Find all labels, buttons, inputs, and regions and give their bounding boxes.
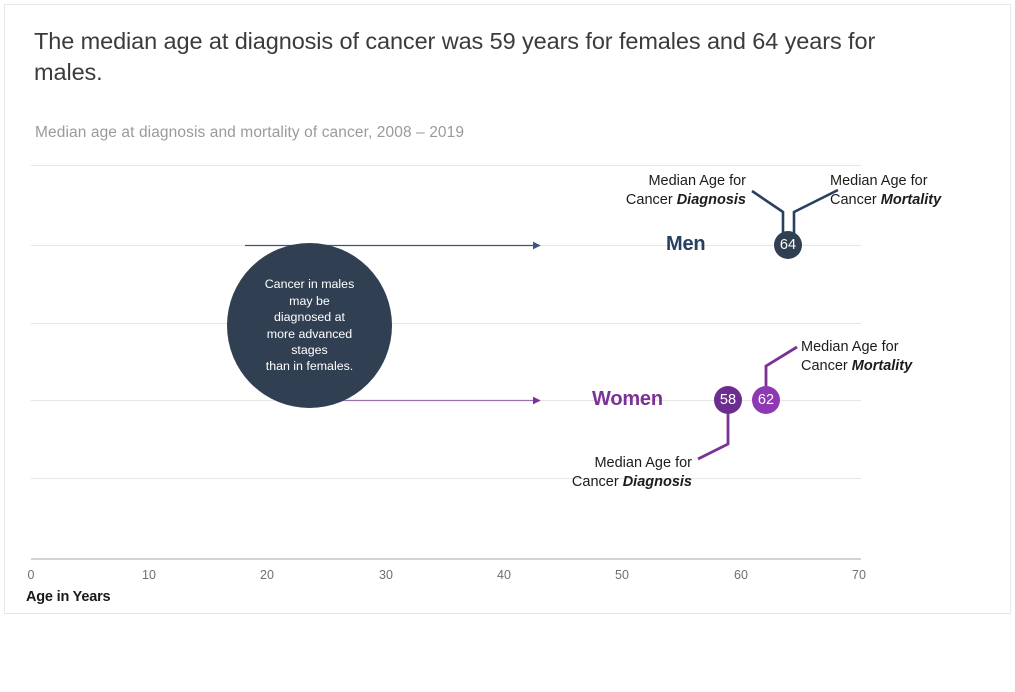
insight-callout-text: Cancer in males may be diagnosed at more…	[251, 276, 369, 374]
series-label-men: Men	[666, 233, 705, 256]
annotation-men-mortality: Median Age for Cancer Mortality	[830, 172, 1000, 210]
marker-women-diagnosis-58[interactable]: 58	[714, 386, 742, 414]
page-title: The median age at diagnosis of cancer wa…	[34, 26, 924, 88]
x-axis-title: Age in Years	[26, 589, 110, 605]
plot-area	[31, 160, 861, 560]
gridline	[31, 323, 861, 324]
gridline	[31, 165, 861, 166]
series-label-women: Women	[592, 388, 663, 411]
annotation-line-2: Cancer	[572, 474, 623, 490]
chart-subtitle: Median age at diagnosis and mortality of…	[35, 124, 835, 142]
x-tick-label: 30	[366, 568, 406, 582]
annotation-women-mortality: Median Age for Cancer Mortality	[801, 338, 976, 376]
x-tick-label: 60	[721, 568, 761, 582]
slide-canvas: The median age at diagnosis of cancer wa…	[0, 0, 1015, 692]
annotation-women-diagnosis: Median Age for Cancer Diagnosis	[540, 454, 692, 492]
annotation-emphasis: Mortality	[881, 192, 941, 208]
annotation-line-1: Median Age for	[801, 339, 899, 355]
marker-men-64[interactable]: 64	[774, 231, 802, 259]
gridline	[31, 478, 861, 479]
annotation-emphasis: Mortality	[852, 358, 912, 374]
marker-women-mortality-62[interactable]: 62	[752, 386, 780, 414]
annotation-emphasis: Diagnosis	[677, 192, 746, 208]
annotation-line-2: Cancer	[830, 192, 881, 208]
x-tick-label: 10	[129, 568, 169, 582]
annotation-line-1: Median Age for	[830, 173, 928, 189]
footer-bar: stats sa Department: Statistics South Af…	[0, 614, 1015, 692]
annotation-men-diagnosis: Median Age for Cancer Diagnosis	[600, 172, 746, 210]
insight-callout-bubble: Cancer in males may be diagnosed at more…	[227, 243, 392, 408]
gridline	[31, 245, 861, 246]
annotation-line-2: Cancer	[801, 358, 852, 374]
x-tick-label: 70	[839, 568, 879, 582]
annotation-line-1: Median Age for	[648, 173, 746, 189]
x-tick-label: 20	[247, 568, 287, 582]
annotation-emphasis: Diagnosis	[623, 474, 692, 490]
annotation-line-1: Median Age for	[594, 455, 692, 471]
x-axis-line	[31, 558, 861, 560]
x-tick-label: 50	[602, 568, 642, 582]
x-tick-label: 40	[484, 568, 524, 582]
annotation-line-2: Cancer	[626, 192, 677, 208]
x-tick-label: 0	[11, 568, 51, 582]
